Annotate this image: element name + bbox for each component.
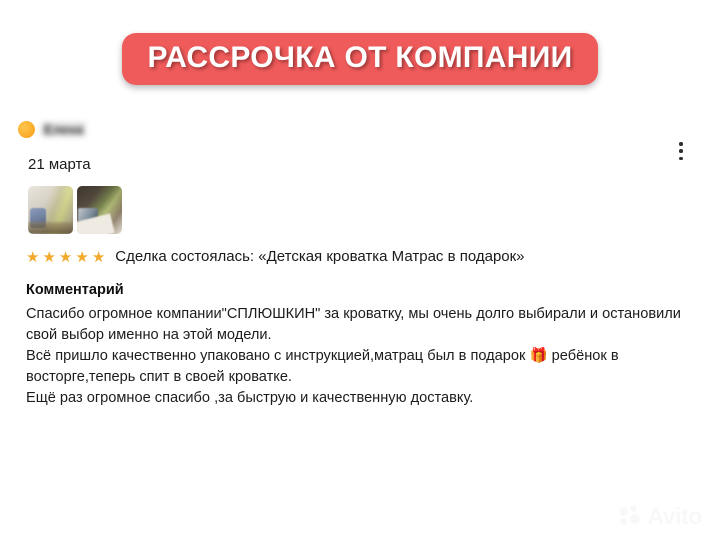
star-icon: ★ [75,250,88,265]
review-date: 21 марта [28,156,720,174]
deal-status-text: Сделка состоялась: «Детская кроватка Мат… [115,248,524,266]
star-icon: ★ [26,250,39,265]
author-row[interactable]: Елена [18,118,720,140]
review-photo-thumbnail[interactable] [77,186,122,234]
star-icon: ★ [59,250,72,265]
review-photo-thumbnail[interactable] [28,186,73,234]
comment-paragraph: Ещё раз огромное спасибо ,за быструю и к… [26,388,696,409]
comment-paragraph: Всё пришло качественно упаковано с инстр… [26,346,696,388]
star-icon: ★ [92,250,105,265]
rating-row: ★ ★ ★ ★ ★ Сделка состоялась: «Детская кр… [26,248,720,266]
kebab-dot [679,157,683,161]
comment-paragraph: Спасибо огромное компании"СПЛЮШКИН" за к… [26,304,696,346]
kebab-dot [679,149,683,153]
kebab-menu-icon[interactable] [672,140,690,162]
review-card: Елена 21 марта ★ ★ ★ ★ ★ Сделка состояла… [0,118,720,409]
avito-logo-icon [619,505,642,528]
kebab-dot [679,142,683,146]
promo-banner: РАССРОЧКА ОТ КОМПАНИИ [122,33,599,85]
avito-watermark: Avito [619,505,702,528]
author-name[interactable]: Елена [41,122,86,137]
review-header: Елена [0,118,720,148]
promo-banner-container: РАССРОЧКА ОТ КОМПАНИИ [0,33,720,85]
rating-stars: ★ ★ ★ ★ ★ [26,250,105,265]
promo-banner-text: РАССРОЧКА ОТ КОМПАНИИ [148,42,573,74]
review-photo-strip [28,186,720,234]
avatar [18,121,35,138]
star-icon: ★ [42,250,55,265]
avito-brand-text: Avito [647,505,702,528]
comment-body: Спасибо огромное компании"СПЛЮШКИН" за к… [26,304,696,409]
comment-title: Комментарий [26,282,720,298]
